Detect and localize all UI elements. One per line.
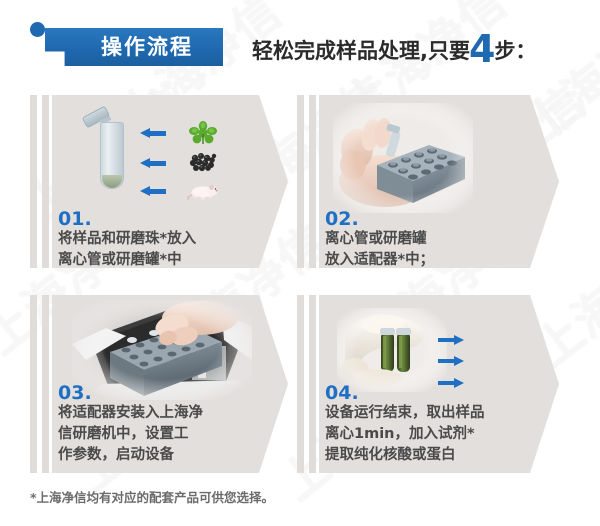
- step-1-text: 将样品和研磨珠*放入 离心管或研磨罐*中: [58, 229, 196, 271]
- hand-holding-adapter-block-photo: [333, 103, 473, 213]
- step-3-number: 03.: [58, 382, 92, 404]
- step-3-line-1: 将适配器安装入上海净: [58, 403, 203, 424]
- page-headline: 轻松完成样品处理,只要4步：: [252, 32, 536, 68]
- step-2-line-1: 离心管或研磨罐: [325, 229, 434, 250]
- step-4-line-1: 设备运行结束，取出样品: [325, 403, 485, 424]
- step-4-number: 04.: [325, 382, 359, 404]
- card-accent-bar-outer: [297, 95, 304, 268]
- step-2-text: 离心管或研磨罐 放入适配器*中；: [325, 229, 434, 271]
- step-3-line-2: 信研磨机中，设置工: [58, 424, 203, 445]
- step-1-line-2: 离心管或研磨罐*中: [58, 250, 196, 271]
- card-accent-bar-inner: [42, 295, 49, 473]
- step-1-line-1: 将样品和研磨珠*放入: [58, 229, 196, 250]
- step-4-line-3: 提取纯化核酸或蛋白: [325, 445, 485, 466]
- headline-suffix: 步：: [494, 39, 536, 63]
- step-3-line-3: 作参数，启动设备: [58, 445, 203, 466]
- card-accent-bar-outer: [30, 295, 37, 473]
- step-3-text: 将适配器安装入上海净 信研磨机中，设置工 作参数，启动设备: [58, 403, 203, 466]
- hand-installing-adapter-into-grinder-photo: [72, 300, 252, 400]
- footnote-text: *上海净信均有对应的配套产品可供您选择。: [30, 487, 274, 506]
- page-header: 操作流程 轻松完成样品处理,只要4步：: [0, 0, 600, 88]
- step-2-line-2: 放入适配器*中；: [325, 250, 434, 271]
- section-title: 操作流程: [72, 31, 222, 63]
- step-2-number: 02.: [325, 208, 359, 230]
- card-accent-bar-inner: [42, 95, 49, 268]
- circle-dot-icon: [30, 22, 45, 37]
- step-1-number: 01.: [58, 208, 92, 230]
- card-accent-bar-outer: [297, 295, 304, 473]
- step-4-text: 设备运行结束，取出样品 离心1min，加入试剂* 提取纯化核酸或蛋白: [325, 403, 485, 466]
- card-accent-bar-outer: [30, 95, 37, 268]
- card-accent-bar-inner: [309, 95, 316, 268]
- headline-prefix: 轻松完成样品处理,只要: [252, 39, 470, 63]
- headline-step-count: 4: [469, 27, 495, 71]
- gloved-hand-holding-two-tubes-photo: [337, 308, 447, 392]
- card-accent-bar-inner: [309, 295, 316, 473]
- step-4-line-2: 离心1min，加入试剂*: [325, 424, 485, 445]
